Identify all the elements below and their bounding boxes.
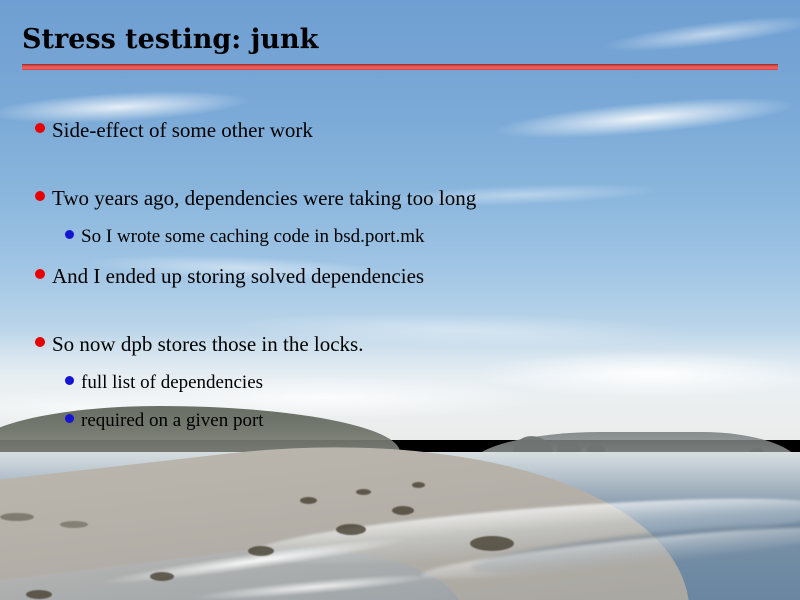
red-dot-bullet-icon	[35, 337, 45, 347]
bullet-text: And I ended up storing solved dependenci…	[52, 264, 424, 288]
bullet-text: So now dpb stores those in the locks.	[52, 332, 363, 356]
bullet-item: And I ended up storing solved dependenci…	[0, 264, 800, 288]
blue-dot-bullet-icon	[65, 376, 74, 385]
bullet-item: full list of dependencies	[0, 372, 800, 394]
blue-dot-bullet-icon	[65, 414, 74, 423]
seaweed-clump	[412, 482, 425, 488]
red-dot-bullet-icon	[35, 123, 45, 133]
red-dot-bullet-icon	[35, 269, 45, 279]
bullet-text: So I wrote some caching code in bsd.port…	[81, 226, 425, 248]
line-spacer	[0, 394, 800, 410]
bullet-item: So now dpb stores those in the locks.	[0, 332, 800, 356]
bullet-text: required on a given port	[81, 410, 264, 432]
seaweed-clump	[0, 513, 34, 521]
seaweed-clump	[470, 536, 514, 551]
seaweed-clump	[392, 506, 414, 515]
seaweed-clump	[336, 524, 366, 535]
slide-title: Stress testing: junk	[22, 24, 318, 55]
title-underline-rule	[22, 64, 778, 70]
seaweed-clump	[150, 572, 174, 581]
block-spacer	[0, 288, 800, 332]
line-spacer	[0, 248, 800, 264]
bullet-item: required on a given port	[0, 410, 800, 432]
bullet-item: So I wrote some caching code in bsd.port…	[0, 226, 800, 248]
slide-body: Side-effect of some other work Two years…	[0, 118, 800, 432]
block-spacer	[0, 142, 800, 186]
seaweed-clump	[248, 546, 274, 556]
line-spacer	[0, 356, 800, 372]
seaweed-clump	[356, 489, 371, 495]
bullet-item: Two years ago, dependencies were taking …	[0, 186, 800, 210]
bullet-item: Side-effect of some other work	[0, 118, 800, 142]
presentation-slide: Stress testing: junk Side-effect of some…	[0, 0, 800, 600]
bullet-text: Side-effect of some other work	[52, 118, 313, 142]
seaweed-clump	[300, 497, 317, 504]
seaweed-clump	[26, 590, 52, 599]
blue-dot-bullet-icon	[65, 230, 74, 239]
line-spacer	[0, 210, 800, 226]
seaweed-clump	[60, 521, 88, 528]
red-dot-bullet-icon	[35, 191, 45, 201]
bullet-text: full list of dependencies	[81, 372, 263, 394]
bullet-text: Two years ago, dependencies were taking …	[52, 186, 476, 210]
